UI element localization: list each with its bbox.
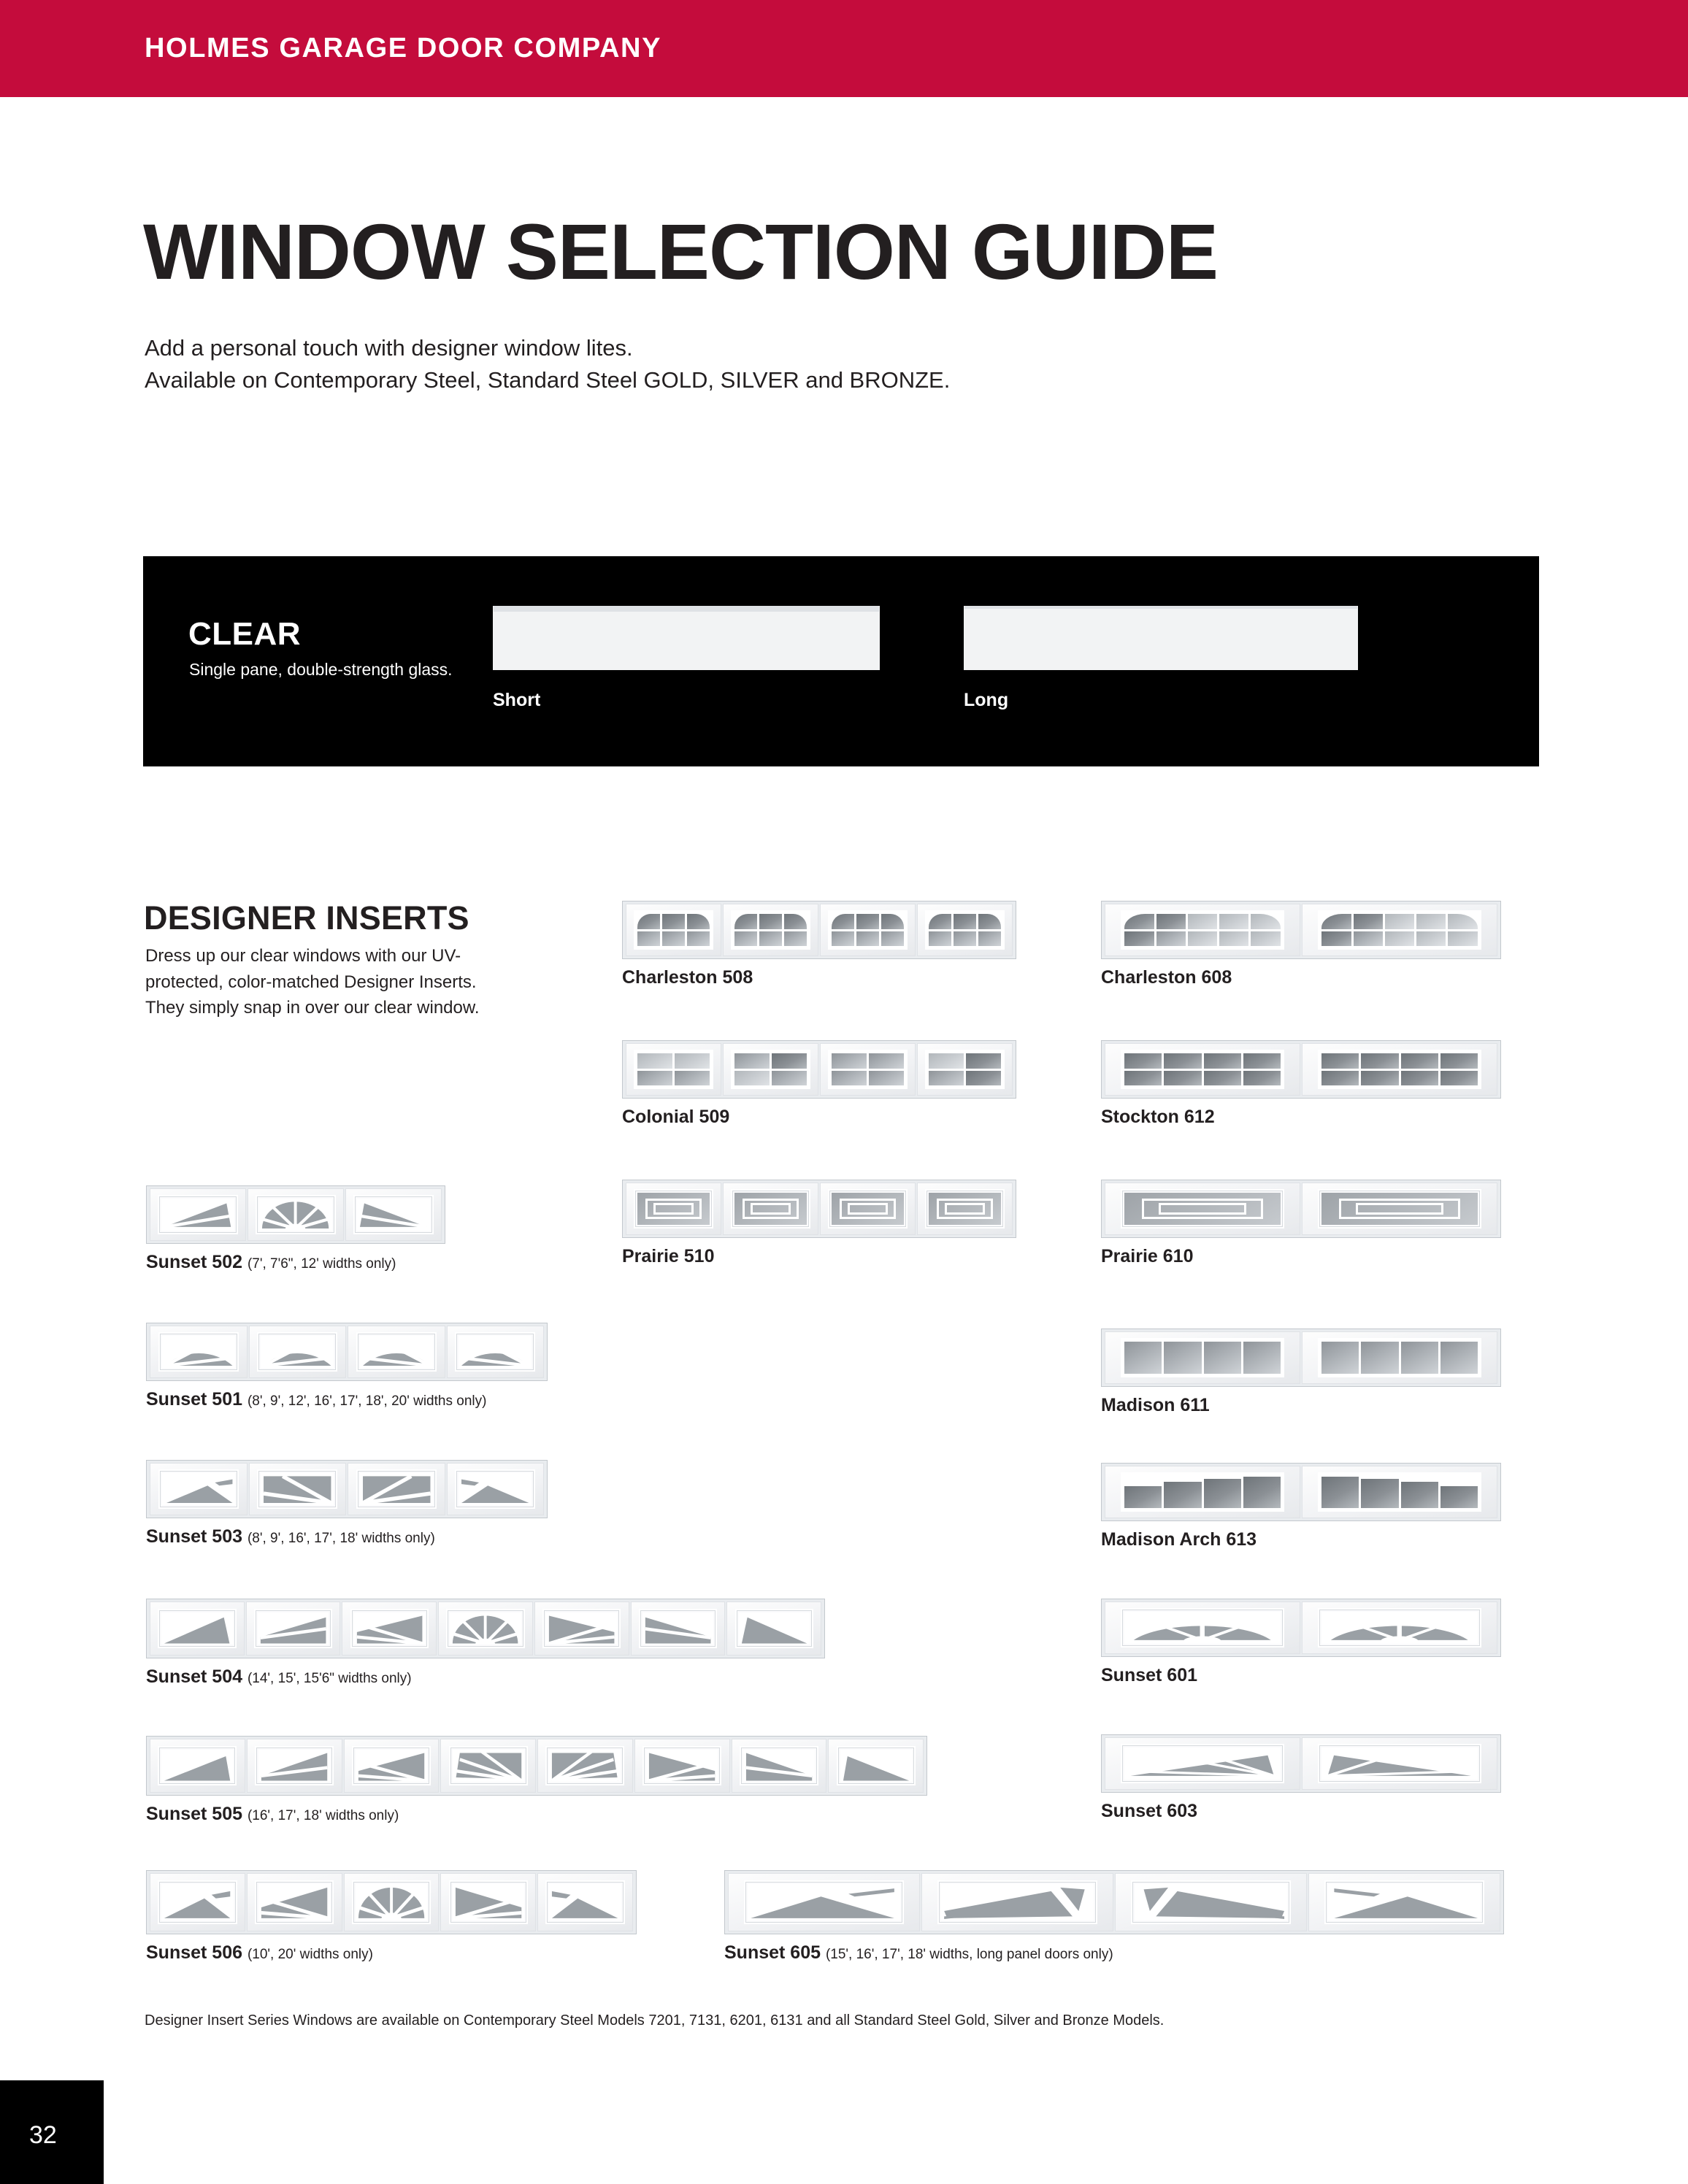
page-subtitle: Add a personal touch with designer windo… [145, 332, 950, 396]
window-item-sunset-603[interactable]: Sunset 603 [1101, 1734, 1501, 1822]
window-caption: Sunset 603 [1101, 1801, 1501, 1822]
window-caption: Madison Arch 613 [1101, 1529, 1501, 1550]
door-panel [723, 1183, 818, 1235]
window-item-sunset-605[interactable]: Sunset 605 (15', 16', 17', 18' widths, l… [724, 1870, 1504, 1964]
window-name: Stockton 612 [1101, 1107, 1215, 1127]
window-name: Sunset 506 [146, 1942, 242, 1963]
door-panel [150, 1873, 245, 1931]
window-item-sunset-503[interactable]: Sunset 503 (8', 9', 16', 17', 18' widths… [146, 1460, 548, 1547]
door-panel [626, 904, 721, 956]
window-item-sunset-601[interactable]: Sunset 601 [1101, 1599, 1501, 1686]
catalog-page: HOLMES GARAGE DOOR COMPANY WINDOW SELECT… [0, 0, 1688, 2184]
door-panel [1105, 1043, 1300, 1096]
window-image [622, 1040, 1016, 1099]
window-image [1101, 1040, 1501, 1099]
door-panel [917, 904, 1013, 956]
clear-option-label-short: Short [493, 690, 540, 711]
window-item-sunset-506[interactable]: Sunset 506 (10', 20' widths only) [146, 1870, 637, 1964]
window-name: Sunset 503 [146, 1526, 242, 1547]
brand-name: HOLMES GARAGE DOOR COMPANY [145, 33, 661, 64]
door-panel [1302, 1043, 1497, 1096]
door-panel [1308, 1873, 1500, 1931]
door-panel [1302, 1466, 1497, 1518]
window-item-charleston-508[interactable]: Charleston 508 [622, 901, 1016, 988]
door-panel [1302, 1331, 1497, 1384]
door-panel [345, 1188, 442, 1241]
window-image [1101, 1329, 1501, 1387]
window-caption: Sunset 505 (16', 17', 18' widths only) [146, 1804, 927, 1825]
window-image [146, 1323, 548, 1381]
door-panel [723, 904, 818, 956]
window-caption: Prairie 610 [1101, 1246, 1501, 1267]
clear-heading: CLEAR [188, 616, 301, 653]
window-item-prairie-610[interactable]: Prairie 610 [1101, 1180, 1501, 1267]
brand-header-bar: HOLMES GARAGE DOOR COMPANY [0, 0, 1688, 97]
window-caption: Sunset 502 (7', 7'6", 12' widths only) [146, 1252, 445, 1273]
window-item-sunset-502[interactable]: Sunset 502 (7', 7'6", 12' widths only) [146, 1185, 445, 1273]
window-name: Prairie 610 [1101, 1246, 1194, 1266]
window-item-stockton-612[interactable]: Stockton 612 [1101, 1040, 1501, 1128]
clear-short-image [493, 606, 880, 670]
subtitle-line-1: Add a personal touch with designer windo… [145, 332, 950, 364]
window-name: Sunset 504 [146, 1666, 242, 1687]
page-number: 32 [29, 2121, 57, 2150]
door-panel [1302, 1183, 1497, 1235]
door-panel [494, 610, 879, 612]
window-qualifier: (7', 7'6", 12' widths only) [248, 1256, 396, 1272]
window-caption: Sunset 605 (15', 16', 17', 18' widths, l… [724, 1942, 1504, 1964]
window-caption: Sunset 504 (14', 15', 15'6" widths only) [146, 1666, 825, 1688]
door-panel [917, 1043, 1013, 1096]
window-image [1101, 901, 1501, 959]
door-panel [828, 1739, 924, 1793]
window-image [724, 1870, 1504, 1934]
window-caption: Colonial 509 [622, 1107, 1016, 1128]
door-panel [626, 1043, 721, 1096]
door-panel [1302, 1602, 1497, 1654]
door-panel [150, 1602, 245, 1656]
door-panel [440, 1873, 536, 1931]
door-panel [342, 1602, 437, 1656]
door-panel [247, 1873, 342, 1931]
door-panel [921, 1873, 1113, 1931]
window-image [146, 1185, 445, 1244]
window-name: Sunset 502 [146, 1252, 242, 1272]
footnote-text: Designer Insert Series Windows are avail… [145, 2012, 1164, 2029]
window-qualifier: (8', 9', 16', 17', 18' widths only) [248, 1531, 435, 1546]
window-image [1101, 1463, 1501, 1521]
door-panel [348, 1326, 445, 1378]
window-caption: Prairie 510 [622, 1246, 1016, 1267]
door-panel [537, 1873, 633, 1931]
door-panel [1115, 1873, 1307, 1931]
door-panel [917, 1183, 1013, 1235]
window-image [1101, 1599, 1501, 1657]
door-panel [344, 1739, 440, 1793]
window-caption: Charleston 608 [1101, 967, 1501, 988]
window-item-prairie-510[interactable]: Prairie 510 [622, 1180, 1016, 1267]
window-name: Madison Arch 613 [1101, 1529, 1257, 1550]
door-panel [537, 1739, 633, 1793]
window-caption: Sunset 506 (10', 20' widths only) [146, 1942, 637, 1964]
door-panel [150, 1739, 245, 1793]
door-panel [1302, 1737, 1497, 1790]
window-image [622, 901, 1016, 959]
door-panel [247, 1739, 342, 1793]
window-qualifier: (10', 20' widths only) [248, 1947, 373, 1962]
designer-inserts-heading: DESIGNER INSERTS [144, 899, 469, 937]
door-panel [1105, 1183, 1300, 1235]
door-panel [728, 1873, 920, 1931]
subtitle-line-2: Available on Contemporary Steel, Standar… [145, 364, 950, 396]
window-image [146, 1460, 548, 1518]
window-image [622, 1180, 1016, 1238]
window-caption: Sunset 501 (8', 9', 12', 16', 17', 18', … [146, 1389, 548, 1410]
door-panel [1105, 1466, 1300, 1518]
clear-long-image [964, 606, 1358, 670]
door-panel [440, 1739, 536, 1793]
window-qualifier: (8', 9', 12', 16', 17', 18', 20' widths … [248, 1393, 486, 1409]
window-item-sunset-504[interactable]: Sunset 504 (14', 15', 15'6" widths only) [146, 1599, 825, 1688]
door-panel [732, 1739, 827, 1793]
door-panel [249, 1463, 347, 1515]
window-name: Charleston 508 [622, 967, 753, 988]
door-panel [1105, 1602, 1300, 1654]
window-item-madison-611[interactable]: Madison 611 [1101, 1329, 1501, 1416]
window-name: Colonial 509 [622, 1107, 729, 1127]
door-panel [1105, 1737, 1300, 1790]
clear-description: Single pane, double-strength glass. [189, 660, 453, 680]
door-panel [634, 1739, 730, 1793]
door-panel [1105, 904, 1300, 956]
window-image [146, 1870, 637, 1934]
door-panel [726, 1602, 821, 1656]
page-title: WINDOW SELECTION GUIDE [143, 212, 1218, 292]
door-panel [249, 1326, 347, 1378]
designer-inserts-body: Dress up our clear windows with our UV-p… [145, 943, 510, 1021]
window-item-sunset-501[interactable]: Sunset 501 (8', 9', 12', 16', 17', 18', … [146, 1323, 548, 1410]
door-panel [150, 1463, 248, 1515]
door-panel [1302, 904, 1497, 956]
door-panel [723, 1043, 818, 1096]
window-name: Sunset 601 [1101, 1665, 1197, 1685]
window-item-charleston-608[interactable]: Charleston 608 [1101, 901, 1501, 988]
window-name: Charleston 608 [1101, 967, 1232, 988]
window-image [1101, 1734, 1501, 1793]
door-panel [820, 1043, 916, 1096]
door-panel [534, 1602, 629, 1656]
window-name: Madison 611 [1101, 1395, 1210, 1415]
door-panel [150, 1188, 246, 1241]
door-panel [150, 1326, 248, 1378]
door-panel [438, 1602, 533, 1656]
window-caption: Charleston 508 [622, 967, 1016, 988]
window-qualifier: (15', 16', 17', 18' widths, long panel d… [826, 1947, 1113, 1962]
window-image [146, 1736, 927, 1796]
door-panel [248, 1188, 344, 1241]
door-panel [820, 904, 916, 956]
window-item-colonial-509[interactable]: Colonial 509 [622, 1040, 1016, 1128]
door-panel [348, 1463, 445, 1515]
window-caption: Stockton 612 [1101, 1107, 1501, 1128]
door-panel [344, 1873, 440, 1931]
window-name: Sunset 605 [724, 1942, 821, 1963]
window-caption: Sunset 601 [1101, 1665, 1501, 1686]
window-image [1101, 1180, 1501, 1238]
window-image [146, 1599, 825, 1658]
window-qualifier: (14', 15', 15'6" widths only) [248, 1671, 412, 1686]
window-caption: Sunset 503 (8', 9', 16', 17', 18' widths… [146, 1526, 548, 1547]
window-name: Sunset 505 [146, 1804, 242, 1824]
door-panel [447, 1463, 545, 1515]
window-name: Prairie 510 [622, 1246, 715, 1266]
door-panel [447, 1326, 545, 1378]
door-panel [631, 1602, 726, 1656]
door-panel [246, 1602, 341, 1656]
window-item-madison-arch-613[interactable]: Madison Arch 613 [1101, 1463, 1501, 1550]
window-caption: Madison 611 [1101, 1395, 1501, 1416]
window-name: Sunset 603 [1101, 1801, 1197, 1821]
door-panel [964, 607, 1357, 609]
window-qualifier: (16', 17', 18' widths only) [248, 1808, 399, 1823]
door-panel [1105, 1331, 1300, 1384]
door-panel [820, 1183, 916, 1235]
door-panel [626, 1183, 721, 1235]
clear-option-label-long: Long [964, 690, 1008, 711]
window-item-sunset-505[interactable]: Sunset 505 (16', 17', 18' widths only) [146, 1736, 927, 1825]
window-name: Sunset 501 [146, 1389, 242, 1410]
